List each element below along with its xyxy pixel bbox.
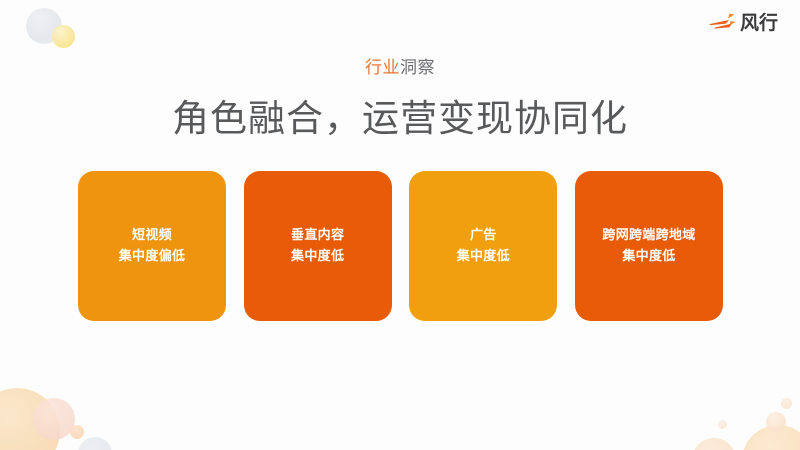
brand-logo-text: 风行 [740,14,778,33]
decor-circle-gold-top-left [52,25,75,48]
card-title-line: 短视频 [132,225,172,246]
metric-card-row: 短视频 集中度偏低 垂直内容 集中度低 广告 集中度低 跨网跨端跨地域 集中度低 [78,171,723,321]
eyebrow-heading: 行业洞察 [0,60,800,77]
eyebrow-highlight-text: 行业 [365,58,400,78]
decor-circle-peach-bottom-right [742,425,800,450]
card-subtitle-line: 集中度低 [457,246,510,267]
card-vertical-content[interactable]: 垂直内容 集中度低 [244,171,392,321]
card-subtitle-line: 集中度低 [622,246,675,267]
page-title: 角色融合，运营变现协同化 [0,98,800,139]
card-short-video[interactable]: 短视频 集中度偏低 [78,171,226,321]
eyebrow-rest-text: 洞察 [400,58,435,78]
slide-canvas: 风行 行业洞察 角色融合，运营变现协同化 短视频 集中度偏低 垂直内容 集中度低… [0,0,800,450]
decor-circle-peach-bottom-left [0,388,60,450]
decor-circle-gray-top-left [26,8,62,44]
decor-dot-bottom-right-upper [781,398,792,409]
decor-dot-bottom-right-lower [718,420,727,429]
decor-circle-small-bottom-right [766,412,786,432]
decor-circle-peach-mid-bottom-right [692,438,736,450]
card-subtitle-line: 集中度低 [291,246,344,267]
fengxing-swoosh-icon [708,12,738,34]
decor-circle-gray-bottom-left [78,437,112,450]
card-title-line: 垂直内容 [291,225,344,246]
card-advertising[interactable]: 广告 集中度低 [409,171,557,321]
card-cross-network[interactable]: 跨网跨端跨地域 集中度低 [575,171,723,321]
decor-circle-pink-bottom-left [33,398,75,440]
brand-logo: 风行 [708,11,778,35]
card-title-line: 广告 [470,225,497,246]
card-subtitle-line: 集中度偏低 [119,246,186,267]
card-title-line: 跨网跨端跨地域 [602,225,695,246]
decor-dot-orange-bottom-left [70,425,84,439]
